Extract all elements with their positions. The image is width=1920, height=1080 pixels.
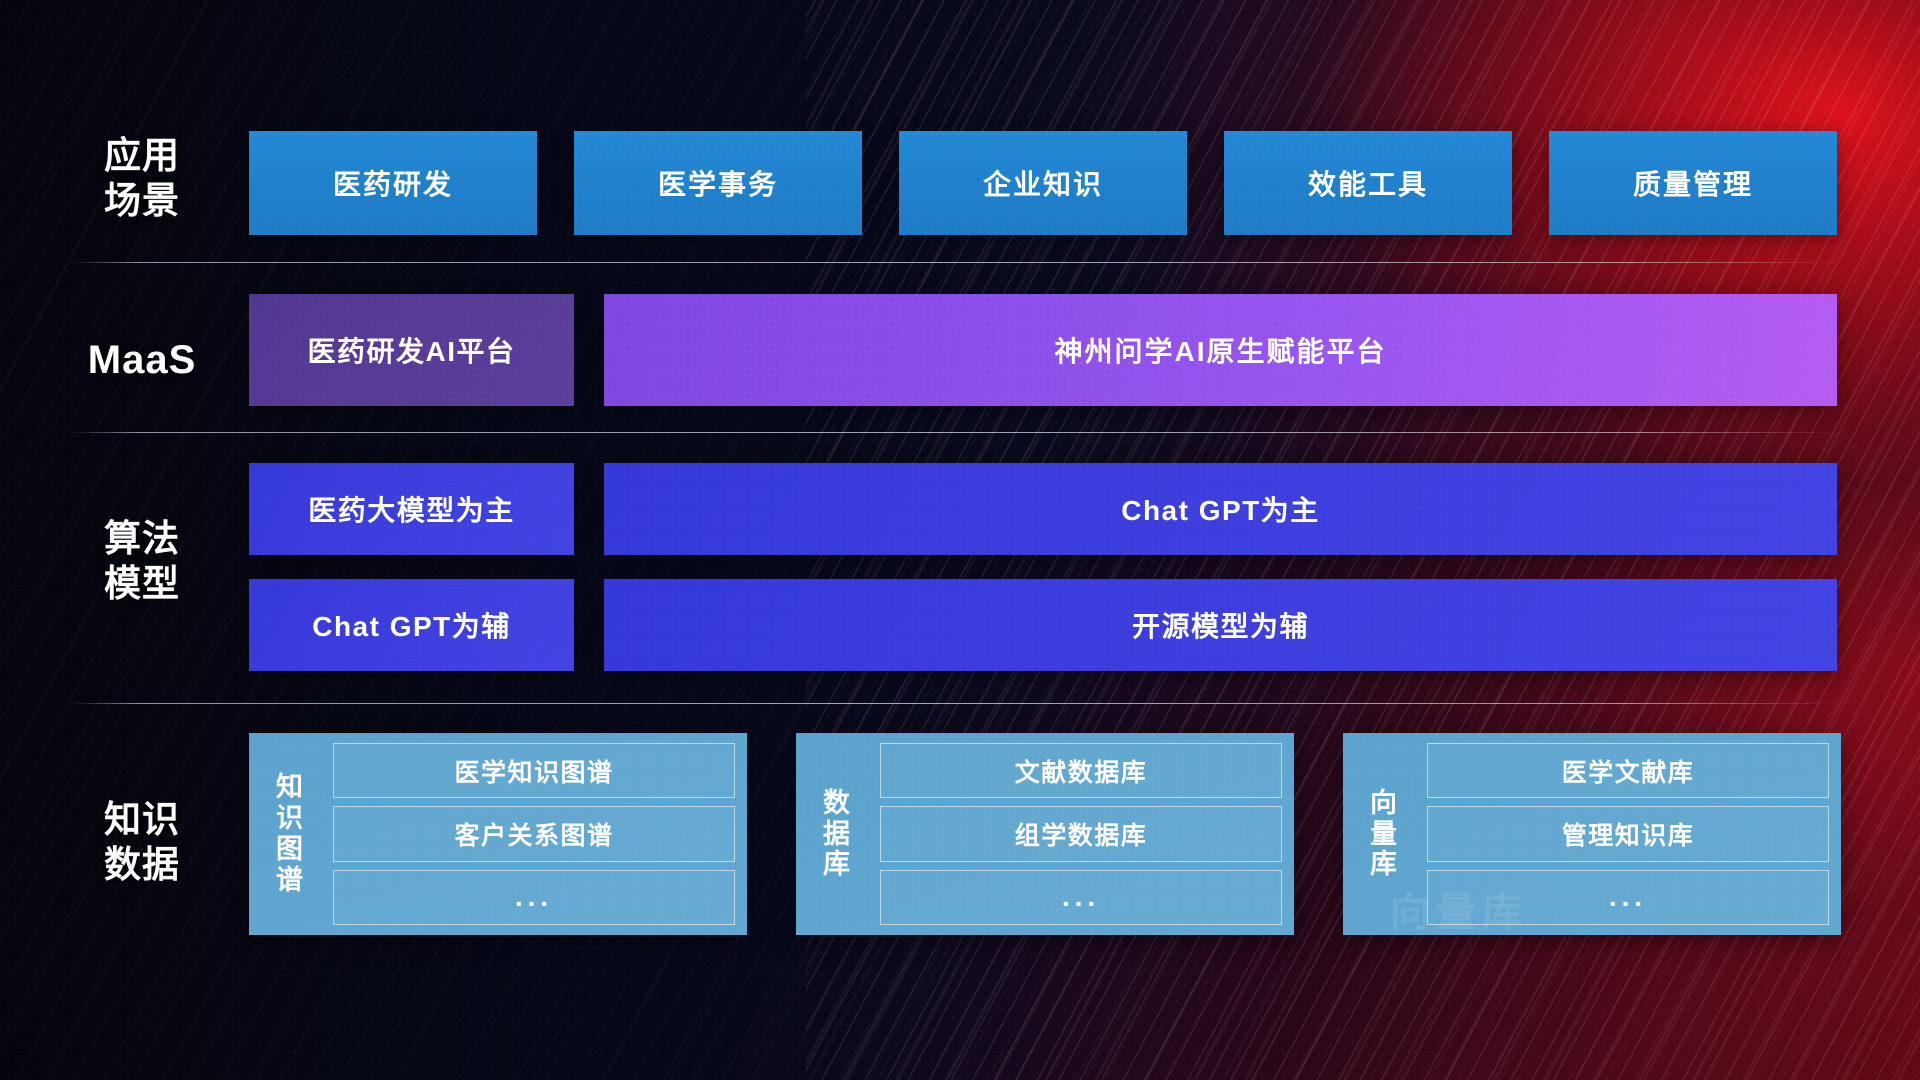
divider-after-application-scenarios	[70, 262, 1840, 263]
algo-box-label: Chat GPT为辅	[312, 605, 511, 645]
scene-box-label: 医学事务	[658, 163, 778, 203]
row-label-algorithm-models: 算法 模型	[72, 516, 212, 606]
scene-box-label: 医药研发	[333, 163, 453, 203]
knowledge-item-more[interactable]: ...	[333, 870, 735, 925]
knowledge-item[interactable]: 客户关系图谱	[333, 806, 735, 861]
maas-box-shenzhou-wenxue-platform[interactable]: 神州问学AI原生赋能平台	[604, 294, 1837, 406]
scene-box-medical-affairs[interactable]: 医学事务	[574, 131, 862, 235]
knowledge-group-knowledge-graph[interactable]: 知 识 图 谱 医学知识图谱 客户关系图谱 ...	[249, 733, 747, 935]
algo-box-chatgpt-secondary[interactable]: Chat GPT为辅	[249, 579, 574, 671]
knowledge-group-items: 医学文献库 管理知识库 ...	[1415, 743, 1829, 925]
row-label-maas: MaaS	[72, 336, 212, 385]
algo-box-label: 开源模型为辅	[1132, 605, 1309, 645]
knowledge-item[interactable]: 医学知识图谱	[333, 743, 735, 798]
divider-after-algorithm-models	[70, 703, 1840, 704]
knowledge-group-items: 医学知识图谱 客户关系图谱 ...	[321, 743, 735, 925]
algo-box-drug-large-model-primary[interactable]: 医药大模型为主	[249, 463, 574, 555]
scene-box-drug-rd[interactable]: 医药研发	[249, 131, 537, 235]
divider-after-maas	[70, 432, 1840, 433]
maas-box-label: 医药研发AI平台	[307, 330, 515, 370]
scene-box-label: 企业知识	[983, 163, 1103, 203]
scene-box-efficiency-tools[interactable]: 效能工具	[1224, 131, 1512, 235]
scene-box-enterprise-knowledge[interactable]: 企业知识	[899, 131, 1187, 235]
maas-box-drug-rd-ai-platform[interactable]: 医药研发AI平台	[249, 294, 574, 406]
knowledge-item[interactable]: 组学数据库	[880, 806, 1282, 861]
algo-box-label: Chat GPT为主	[1121, 489, 1320, 529]
knowledge-group-items: 文献数据库 组学数据库 ...	[868, 743, 1282, 925]
knowledge-item[interactable]: 文献数据库	[880, 743, 1282, 798]
scene-box-quality-management[interactable]: 质量管理	[1549, 131, 1837, 235]
knowledge-group-title: 数 据 库	[806, 743, 868, 925]
knowledge-item-more[interactable]: ...	[880, 870, 1282, 925]
algo-box-opensource-secondary[interactable]: 开源模型为辅	[604, 579, 1837, 671]
diagram-canvas: 应用 场景 医药研发 医学事务 企业知识 效能工具 质量管理 MaaS 医药研发…	[0, 0, 1920, 1080]
algo-box-chatgpt-primary[interactable]: Chat GPT为主	[604, 463, 1837, 555]
knowledge-group-vector-database[interactable]: 向 量 库 医学文献库 管理知识库 ...	[1343, 733, 1841, 935]
knowledge-item[interactable]: 管理知识库	[1427, 806, 1829, 861]
algo-box-label: 医药大模型为主	[308, 489, 515, 529]
knowledge-group-database[interactable]: 数 据 库 文献数据库 组学数据库 ...	[796, 733, 1294, 935]
row-label-knowledge-data: 知识 数据	[72, 797, 212, 887]
knowledge-item-more[interactable]: ...	[1427, 870, 1829, 925]
row-label-application-scenarios: 应用 场景	[72, 133, 212, 223]
knowledge-group-title: 向 量 库	[1353, 743, 1415, 925]
maas-box-label: 神州问学AI原生赋能平台	[1054, 330, 1386, 370]
knowledge-item[interactable]: 医学文献库	[1427, 743, 1829, 798]
scene-box-label: 质量管理	[1633, 163, 1753, 203]
diagram-content: 应用 场景 医药研发 医学事务 企业知识 效能工具 质量管理 MaaS 医药研发…	[0, 0, 1920, 1080]
scene-box-label: 效能工具	[1308, 163, 1428, 203]
knowledge-group-title: 知 识 图 谱	[259, 743, 321, 925]
